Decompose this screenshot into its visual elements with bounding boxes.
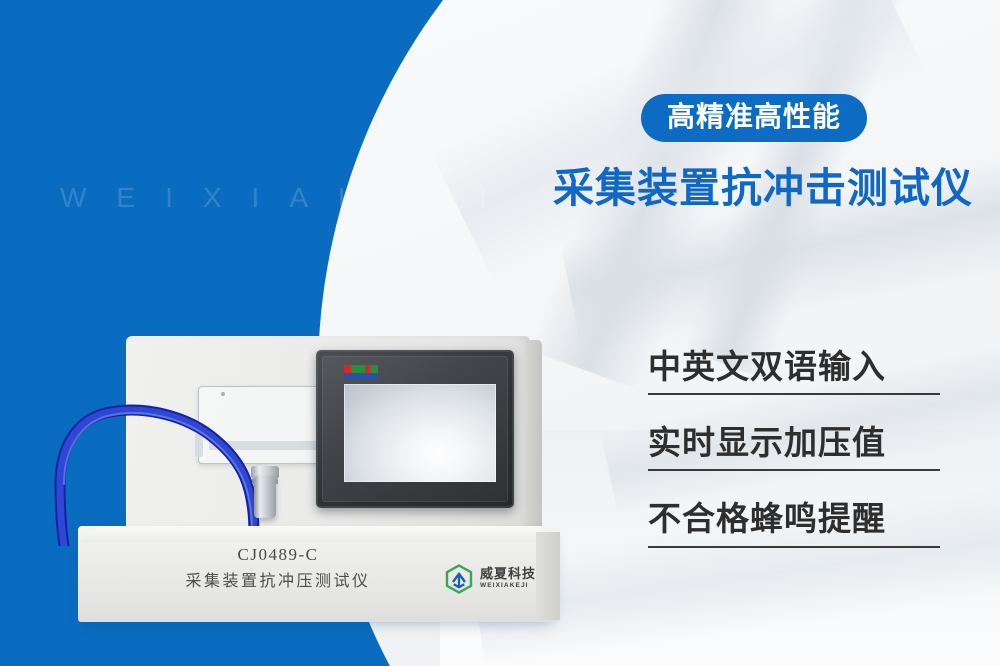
feature-label: 中英文双语输入 xyxy=(648,346,940,388)
hexagon-logo-icon xyxy=(444,564,474,594)
metal-nozzle xyxy=(254,476,276,518)
list-item: 实时显示加压值 xyxy=(648,422,940,471)
product-device: CJ0489-C 采集装置抗冲压测试仪 威夏科技 WEIXIAKEJI xyxy=(78,336,582,624)
feature-divider xyxy=(648,469,940,471)
hmi-touch-panel[interactable] xyxy=(316,350,514,508)
page-title: 采集装置抗冲击测试仪 xyxy=(553,166,973,211)
spacer xyxy=(648,471,940,498)
brand-name-cn: 威夏科技 xyxy=(480,568,536,581)
brand-text: 威夏科技 WEIXIAKEJI xyxy=(480,568,536,590)
device-label: CJ0489-C 采集装置抗冲压测试仪 xyxy=(78,542,478,593)
watermark-text: WEIXIAKEJI xyxy=(60,182,517,214)
device-base-right-side xyxy=(536,532,560,620)
list-item: 中英文双语输入 xyxy=(648,346,940,395)
hmi-vendor-logo-bar xyxy=(344,373,378,377)
feature-divider xyxy=(648,546,940,548)
hmi-vendor-logo-icon xyxy=(344,365,378,377)
tagline-badge: 高精准高性能 xyxy=(641,94,867,142)
device-base-top-bevel xyxy=(78,526,558,542)
blue-hose xyxy=(46,366,266,546)
hmi-screen[interactable] xyxy=(344,384,496,482)
brand-name-en: WEIXIAKEJI xyxy=(480,583,536,590)
device-back-edge xyxy=(528,340,542,536)
brand-logo: 威夏科技 WEIXIAKEJI xyxy=(444,564,536,594)
feature-label: 不合格蜂鸣提醒 xyxy=(648,498,940,540)
banner-stage: WEIXIAKEJI 高精准高性能 采集装置抗冲击测试仪 中英文双语输入 实时显… xyxy=(0,0,1000,666)
device-product-name: 采集装置抗冲压测试仪 xyxy=(78,568,478,594)
spacer xyxy=(648,395,940,422)
feature-divider xyxy=(648,393,940,395)
list-item: 不合格蜂鸣提醒 xyxy=(648,498,940,547)
feature-label: 实时显示加压值 xyxy=(648,422,940,464)
feature-list: 中英文双语输入 实时显示加压值 不合格蜂鸣提醒 xyxy=(648,346,940,548)
device-model-code: CJ0489-C xyxy=(78,542,478,568)
hmi-bezel xyxy=(322,356,508,502)
